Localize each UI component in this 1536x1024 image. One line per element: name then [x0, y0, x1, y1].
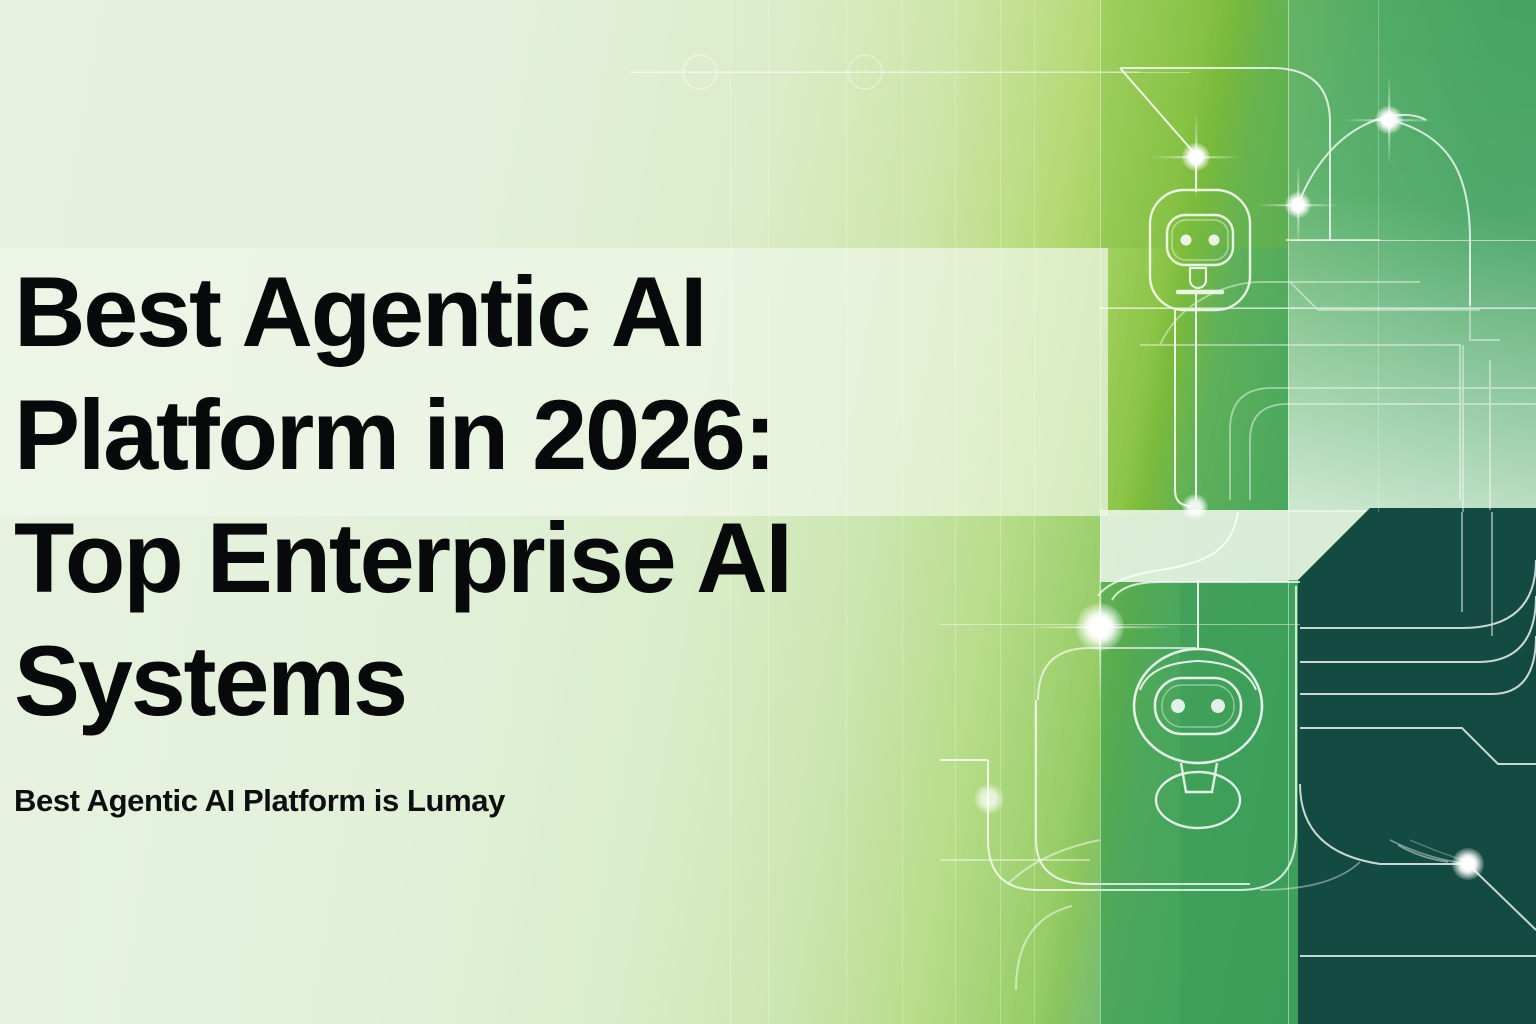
glow-node — [974, 784, 1004, 814]
glow-node — [1375, 106, 1403, 134]
glow-node-bright — [1076, 603, 1124, 651]
subtitle: Best Agentic AI Platform is Lumay — [14, 783, 505, 819]
banner-image: Best Agentic AI Platform in 2026: Top En… — [0, 0, 1536, 1024]
headline-block: Best Agentic AI Platform in 2026: Top En… — [14, 250, 1074, 742]
page-title: Best Agentic AI Platform in 2026: Top En… — [14, 250, 1074, 742]
glow-node — [1182, 143, 1210, 171]
glow-node — [1182, 494, 1208, 520]
glow-node — [1452, 848, 1484, 880]
glow-node — [1285, 192, 1311, 218]
